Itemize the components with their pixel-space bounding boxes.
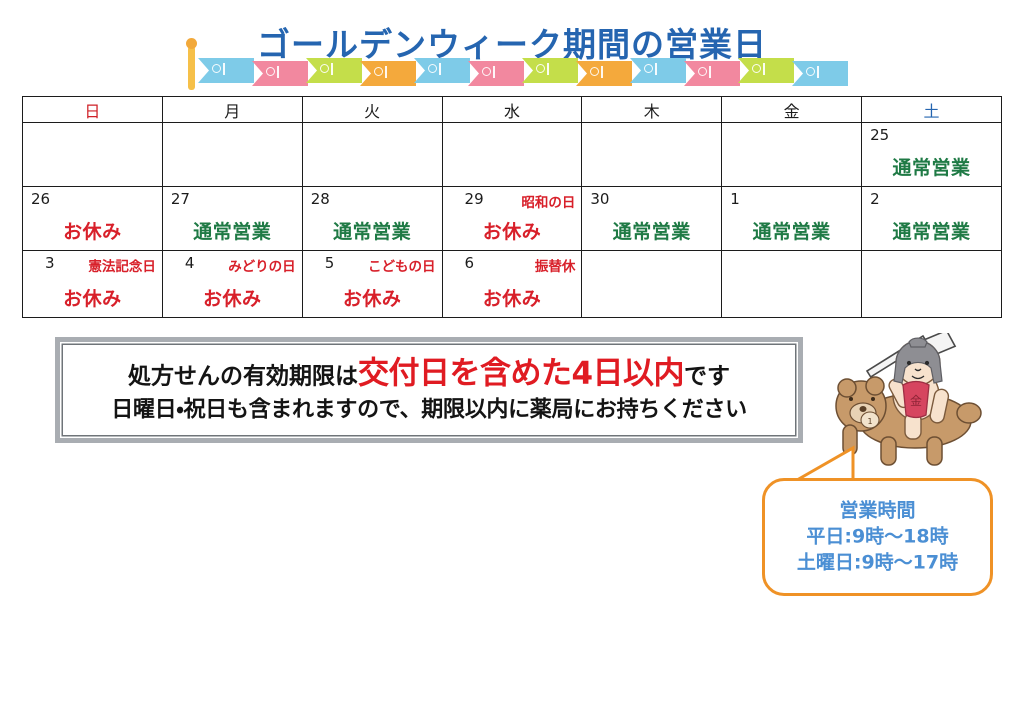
flag-pole-knob-icon <box>186 38 197 49</box>
bunting-flag <box>792 61 848 86</box>
day-cell-content <box>163 123 302 186</box>
flag-line-icon <box>223 63 225 75</box>
calendar-day-cell: 26お休み <box>23 187 163 251</box>
holiday-label: 昭和の日 <box>521 191 575 211</box>
calendar-day-cell <box>862 251 1002 318</box>
flag-line-icon <box>493 66 495 78</box>
calendar-day-cell <box>582 123 722 187</box>
calendar-day-cell: 27通常営業 <box>162 187 302 251</box>
calendar-body: 25通常営業26お休み27通常営業28通常営業29昭和の日お休み30通常営業1通… <box>23 123 1002 318</box>
day-cell-content <box>722 123 861 186</box>
flag-circle-icon <box>752 64 761 73</box>
flag-row <box>198 58 848 86</box>
day-status-label: お休み <box>443 217 582 244</box>
holiday-label: みどりの日 <box>228 255 296 275</box>
calendar-day-cell <box>722 123 862 187</box>
calendar-day-cell <box>582 251 722 318</box>
notice-line1-prefix: 処方せんの有効期限は <box>128 364 358 390</box>
day-status-label: 通常営業 <box>582 217 721 244</box>
bunting-flag <box>684 61 740 86</box>
notice-line1-suffix: です <box>684 364 730 390</box>
day-number: 6 <box>465 254 475 272</box>
bunting-flag <box>738 58 794 83</box>
weekday-header-sat: 土 <box>862 97 1002 123</box>
day-number: 25 <box>870 126 889 144</box>
calendar-week-row: 25通常営業 <box>23 123 1002 187</box>
business-days-calendar: 日 月 火 水 木 金 土 25通常営業26お休み27通常営業28通常営業29昭… <box>22 96 1002 318</box>
svg-text:1: 1 <box>867 417 872 426</box>
day-status-label: お休み <box>23 217 162 244</box>
flag-line-icon <box>547 63 549 75</box>
flag-circle-icon <box>320 64 329 73</box>
day-status-label: お休み <box>443 284 582 311</box>
calendar-day-cell <box>302 123 442 187</box>
calendar-day-cell: 28通常営業 <box>302 187 442 251</box>
calendar-day-cell <box>162 123 302 187</box>
prescription-validity-notice: 処方せんの有効期限は交付日を含めた4日以内です 日曜日・祝日も含まれますので、期… <box>55 337 803 443</box>
flag-line-icon <box>439 63 441 75</box>
business-hours-text: 営業時間 平日:9時～18時 土曜日:9時～17時 <box>765 498 990 577</box>
flag-circle-icon <box>482 67 491 76</box>
hours-heading: 営業時間 <box>765 498 990 524</box>
flag-circle-icon <box>698 67 707 76</box>
calendar-header-row: 日 月 火 水 木 金 土 <box>23 97 1002 123</box>
flag-circle-icon <box>374 67 383 76</box>
weekday-header-thu: 木 <box>582 97 722 123</box>
day-status-label: 通常営業 <box>862 153 1001 180</box>
day-number: 5 <box>325 254 335 272</box>
day-cell-content: 30通常営業 <box>582 187 721 250</box>
flag-line-icon <box>331 63 333 75</box>
calendar-day-cell <box>23 123 163 187</box>
bunting-flag <box>306 58 362 83</box>
day-cell-content <box>862 251 1001 317</box>
day-cell-content <box>443 123 582 186</box>
day-number: 3 <box>45 254 55 272</box>
day-number: 26 <box>31 190 50 208</box>
day-number: 4 <box>185 254 195 272</box>
bunting-decoration <box>188 52 848 92</box>
flag-line-icon <box>601 66 603 78</box>
flag-line-icon <box>655 63 657 75</box>
day-status-label: 通常営業 <box>163 217 302 244</box>
poster-page: ゴールデンウィーク期間の営業日 日 月 火 水 木 金 土 25通常営業26お休… <box>0 0 1024 724</box>
calendar-day-cell: 1通常営業 <box>722 187 862 251</box>
holiday-label: こどもの日 <box>368 255 436 275</box>
weekday-header-wed: 水 <box>442 97 582 123</box>
day-number: 29 <box>465 190 484 208</box>
day-number: 1 <box>730 190 740 208</box>
notice-line-2: 日曜日・祝日も含まれますので、期限以内に薬局にお持ちください <box>60 396 798 427</box>
flag-line-icon <box>385 66 387 78</box>
bunting-flag <box>630 58 686 83</box>
holiday-label: 振替休 <box>535 255 576 275</box>
day-cell-content: 4みどりの日お休み <box>163 251 302 317</box>
calendar-day-cell: 30通常営業 <box>582 187 722 251</box>
bunting-flag <box>360 61 416 86</box>
day-cell-content: 3憲法記念日お休み <box>23 251 162 317</box>
weekday-header-sun: 日 <box>23 97 163 123</box>
day-cell-content: 6振替休お休み <box>443 251 582 317</box>
bunting-flag <box>198 58 254 83</box>
bunting-flag <box>576 61 632 86</box>
hours-saturday: 土曜日:9時～17時 <box>765 550 990 576</box>
calendar-day-cell: 6振替休お休み <box>442 251 582 318</box>
day-number: 27 <box>171 190 190 208</box>
day-cell-content: 29昭和の日お休み <box>443 187 582 250</box>
day-status-label: お休み <box>163 284 302 311</box>
calendar-week-row: 3憲法記念日お休み4みどりの日お休み5こどもの日お休み6振替休お休み <box>23 251 1002 318</box>
day-number: 30 <box>590 190 609 208</box>
day-cell-content <box>303 123 442 186</box>
day-cell-content: 1通常営業 <box>722 187 861 250</box>
day-status-label: お休み <box>303 284 442 311</box>
weekday-header-mon: 月 <box>162 97 302 123</box>
svg-text:金: 金 <box>910 394 922 408</box>
calendar-day-cell <box>442 123 582 187</box>
bunting-flag <box>522 58 578 83</box>
flag-line-icon <box>763 63 765 75</box>
day-status-label: 通常営業 <box>862 217 1001 244</box>
day-cell-content: 26お休み <box>23 187 162 250</box>
flag-circle-icon <box>644 64 653 73</box>
calendar-day-cell: 25通常営業 <box>862 123 1002 187</box>
day-status-label: 通常営業 <box>303 217 442 244</box>
calendar-day-cell: 3憲法記念日お休み <box>23 251 163 318</box>
flag-circle-icon <box>428 64 437 73</box>
calendar-day-cell: 5こどもの日お休み <box>302 251 442 318</box>
day-status-label: お休み <box>23 284 162 311</box>
flag-line-icon <box>817 66 819 78</box>
hours-weekday: 平日:9時～18時 <box>765 524 990 550</box>
day-status-label: 通常営業 <box>722 217 861 244</box>
calendar-day-cell: 4みどりの日お休み <box>162 251 302 318</box>
notice-line-1: 処方せんの有効期限は交付日を含めた4日以内です <box>60 354 798 396</box>
day-cell-content <box>582 123 721 186</box>
bunting-flag <box>414 58 470 83</box>
day-cell-content: 2通常営業 <box>862 187 1001 250</box>
bunting-flag <box>468 61 524 86</box>
flag-circle-icon <box>212 64 221 73</box>
day-cell-content <box>722 251 861 317</box>
day-number: 2 <box>870 190 880 208</box>
notice-text-block: 処方せんの有効期限は交付日を含めた4日以内です 日曜日・祝日も含まれますので、期… <box>60 354 798 427</box>
weekday-header-fri: 金 <box>722 97 862 123</box>
flag-circle-icon <box>536 64 545 73</box>
day-cell-content: 5こどもの日お休み <box>303 251 442 317</box>
flag-circle-icon <box>806 67 815 76</box>
flag-line-icon <box>709 66 711 78</box>
flag-pole-icon <box>188 46 195 90</box>
flag-line-icon <box>277 66 279 78</box>
business-hours-bubble: 営業時間 平日:9時～18時 土曜日:9時～17時 <box>762 478 993 596</box>
flag-circle-icon <box>590 67 599 76</box>
day-number: 28 <box>311 190 330 208</box>
holiday-label: 憲法記念日 <box>88 255 156 275</box>
day-cell-content <box>582 251 721 317</box>
day-cell-content <box>23 123 162 186</box>
calendar-day-cell: 2通常営業 <box>862 187 1002 251</box>
weekday-header-tue: 火 <box>302 97 442 123</box>
calendar-week-row: 26お休み27通常営業28通常営業29昭和の日お休み30通常営業1通常営業2通常… <box>23 187 1002 251</box>
day-cell-content: 27通常営業 <box>163 187 302 250</box>
flag-circle-icon <box>266 67 275 76</box>
calendar-day-cell: 29昭和の日お休み <box>442 187 582 251</box>
day-cell-content: 28通常営業 <box>303 187 442 250</box>
calendar-day-cell <box>722 251 862 318</box>
notice-emphasis: 交付日を含めた4日以内 <box>358 356 684 392</box>
bunting-flag <box>252 61 308 86</box>
day-cell-content: 25通常営業 <box>862 123 1001 186</box>
